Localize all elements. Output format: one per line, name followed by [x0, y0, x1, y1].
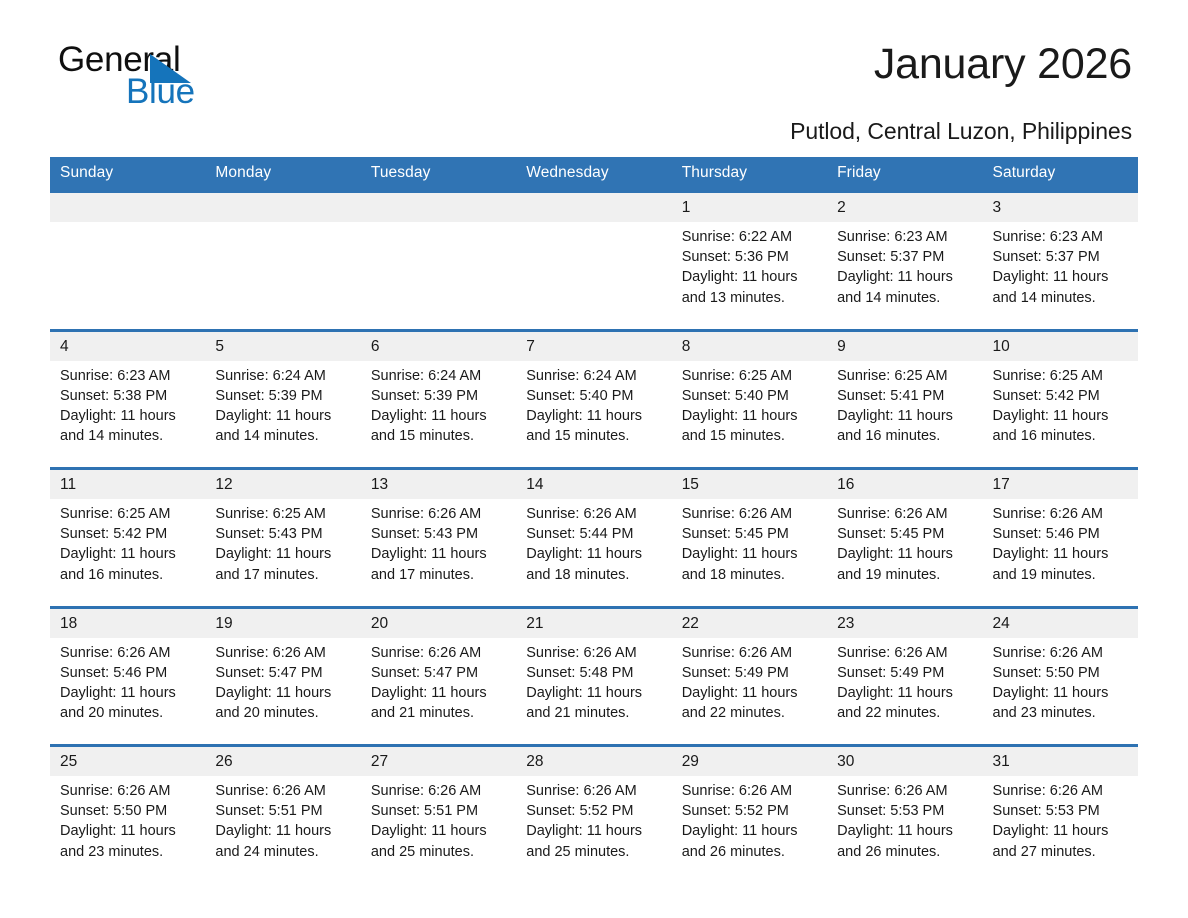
- daylight-text-line1: Daylight: 11 hours: [837, 821, 974, 841]
- daylight-text-line1: Daylight: 11 hours: [837, 267, 974, 287]
- day-detail-lines: Sunrise: 6:26 AMSunset: 5:45 PMDaylight:…: [682, 504, 819, 585]
- sunset-text: Sunset: 5:53 PM: [837, 801, 974, 821]
- day-detail-cell[interactable]: Sunrise: 6:25 AMSunset: 5:42 PMDaylight:…: [50, 499, 205, 607]
- day-detail-lines: Sunrise: 6:26 AMSunset: 5:45 PMDaylight:…: [837, 504, 974, 585]
- day-number-cell[interactable]: 14: [516, 469, 671, 500]
- weekday-header-friday: Friday: [827, 157, 982, 192]
- general-blue-logo[interactable]: General Blue: [50, 42, 250, 108]
- day-detail-cell[interactable]: Sunrise: 6:26 AMSunset: 5:50 PMDaylight:…: [983, 638, 1138, 746]
- sunrise-text: Sunrise: 6:25 AM: [215, 504, 352, 524]
- day-number-cell[interactable]: 21: [516, 607, 671, 638]
- daylight-text-line1: Daylight: 11 hours: [837, 683, 974, 703]
- day-number-cell[interactable]: 24: [983, 607, 1138, 638]
- day-detail-cell[interactable]: Sunrise: 6:26 AMSunset: 5:45 PMDaylight:…: [827, 499, 982, 607]
- day-number-cell[interactable]: 30: [827, 746, 982, 777]
- weekday-header-wednesday: Wednesday: [516, 157, 671, 192]
- sunset-text: Sunset: 5:40 PM: [526, 386, 663, 406]
- day-detail-lines: Sunrise: 6:26 AMSunset: 5:49 PMDaylight:…: [837, 643, 974, 724]
- daylight-text-line1: Daylight: 11 hours: [526, 544, 663, 564]
- daylight-text-line2: and 25 minutes.: [371, 842, 508, 862]
- weekday-header-tuesday: Tuesday: [361, 157, 516, 192]
- day-number-cell[interactable]: 6: [361, 330, 516, 361]
- day-number-cell[interactable]: 25: [50, 746, 205, 777]
- daylight-text-line2: and 15 minutes.: [526, 426, 663, 446]
- daylight-text-line1: Daylight: 11 hours: [60, 544, 197, 564]
- day-cell-empty: [50, 192, 205, 223]
- daylight-text-line2: and 14 minutes.: [215, 426, 352, 446]
- sunset-text: Sunset: 5:45 PM: [837, 524, 974, 544]
- day-cell-empty: [361, 192, 516, 223]
- day-detail-empty: [516, 222, 671, 330]
- day-number: 2: [837, 199, 846, 216]
- sunrise-text: Sunrise: 6:26 AM: [837, 643, 974, 663]
- day-detail-lines: Sunrise: 6:26 AMSunset: 5:50 PMDaylight:…: [993, 643, 1130, 724]
- daylight-text-line1: Daylight: 11 hours: [682, 821, 819, 841]
- day-number: 12: [215, 476, 232, 493]
- sunset-text: Sunset: 5:53 PM: [993, 801, 1130, 821]
- day-number-cell[interactable]: 8: [672, 330, 827, 361]
- day-detail-cell[interactable]: Sunrise: 6:26 AMSunset: 5:51 PMDaylight:…: [361, 776, 516, 884]
- sunset-text: Sunset: 5:36 PM: [682, 247, 819, 267]
- daylight-text-line2: and 23 minutes.: [60, 842, 197, 862]
- day-number-cell[interactable]: 29: [672, 746, 827, 777]
- day-number: 16: [837, 476, 854, 493]
- daylight-text-line2: and 26 minutes.: [837, 842, 974, 862]
- day-number-cell[interactable]: 26: [205, 746, 360, 777]
- day-detail-cell[interactable]: Sunrise: 6:23 AMSunset: 5:37 PMDaylight:…: [827, 222, 982, 330]
- day-detail-cell[interactable]: Sunrise: 6:26 AMSunset: 5:45 PMDaylight:…: [672, 499, 827, 607]
- daylight-text-line2: and 18 minutes.: [682, 565, 819, 585]
- day-number-cell[interactable]: 12: [205, 469, 360, 500]
- sunrise-text: Sunrise: 6:26 AM: [371, 643, 508, 663]
- daylight-text-line1: Daylight: 11 hours: [60, 406, 197, 426]
- day-detail-cell[interactable]: Sunrise: 6:26 AMSunset: 5:49 PMDaylight:…: [827, 638, 982, 746]
- weekday-header-sunday: Sunday: [50, 157, 205, 192]
- daylight-text-line2: and 26 minutes.: [682, 842, 819, 862]
- sunset-text: Sunset: 5:42 PM: [60, 524, 197, 544]
- sunrise-text: Sunrise: 6:24 AM: [215, 366, 352, 386]
- sunset-text: Sunset: 5:47 PM: [215, 663, 352, 683]
- day-number: 15: [682, 476, 699, 493]
- day-number: 21: [526, 615, 543, 632]
- day-number-cell[interactable]: 7: [516, 330, 671, 361]
- day-detail-lines: Sunrise: 6:26 AMSunset: 5:46 PMDaylight:…: [60, 643, 197, 724]
- day-detail-lines: Sunrise: 6:26 AMSunset: 5:47 PMDaylight:…: [371, 643, 508, 724]
- day-detail-cell[interactable]: Sunrise: 6:26 AMSunset: 5:50 PMDaylight:…: [50, 776, 205, 884]
- sunrise-text: Sunrise: 6:25 AM: [682, 366, 819, 386]
- day-detail-lines: Sunrise: 6:26 AMSunset: 5:44 PMDaylight:…: [526, 504, 663, 585]
- daylight-text-line2: and 15 minutes.: [371, 426, 508, 446]
- day-number-cell[interactable]: 23: [827, 607, 982, 638]
- daylight-text-line1: Daylight: 11 hours: [371, 683, 508, 703]
- day-detail-lines: Sunrise: 6:25 AMSunset: 5:41 PMDaylight:…: [837, 366, 974, 447]
- calendar-grid: Sunday Monday Tuesday Wednesday Thursday…: [50, 157, 1138, 884]
- week-daynumber-row: 123: [50, 192, 1138, 223]
- daylight-text-line1: Daylight: 11 hours: [993, 683, 1130, 703]
- sunset-text: Sunset: 5:42 PM: [993, 386, 1130, 406]
- daylight-text-line1: Daylight: 11 hours: [837, 406, 974, 426]
- day-detail-cell[interactable]: Sunrise: 6:26 AMSunset: 5:44 PMDaylight:…: [516, 499, 671, 607]
- sunrise-text: Sunrise: 6:26 AM: [682, 504, 819, 524]
- title-block: January 2026: [874, 42, 1138, 87]
- daylight-text-line1: Daylight: 11 hours: [526, 821, 663, 841]
- day-number-cell[interactable]: 16: [827, 469, 982, 500]
- sunrise-text: Sunrise: 6:26 AM: [60, 643, 197, 663]
- day-detail-lines: Sunrise: 6:24 AMSunset: 5:39 PMDaylight:…: [371, 366, 508, 447]
- day-detail-cell[interactable]: Sunrise: 6:23 AMSunset: 5:38 PMDaylight:…: [50, 361, 205, 469]
- daylight-text-line2: and 14 minutes.: [837, 288, 974, 308]
- sunset-text: Sunset: 5:45 PM: [682, 524, 819, 544]
- weekday-header-row: Sunday Monday Tuesday Wednesday Thursday…: [50, 157, 1138, 192]
- daylight-text-line2: and 22 minutes.: [682, 703, 819, 723]
- daylight-text-line1: Daylight: 11 hours: [993, 267, 1130, 287]
- day-number-cell[interactable]: 2: [827, 192, 982, 223]
- day-detail-cell[interactable]: Sunrise: 6:26 AMSunset: 5:46 PMDaylight:…: [983, 499, 1138, 607]
- daylight-text-line2: and 14 minutes.: [60, 426, 197, 446]
- daylight-text-line1: Daylight: 11 hours: [215, 406, 352, 426]
- day-number: 6: [371, 338, 380, 355]
- daylight-text-line2: and 20 minutes.: [215, 703, 352, 723]
- day-detail-lines: Sunrise: 6:25 AMSunset: 5:42 PMDaylight:…: [60, 504, 197, 585]
- day-detail-lines: Sunrise: 6:23 AMSunset: 5:37 PMDaylight:…: [837, 227, 974, 308]
- day-detail-empty: [50, 222, 205, 330]
- sunset-text: Sunset: 5:37 PM: [837, 247, 974, 267]
- sunset-text: Sunset: 5:50 PM: [993, 663, 1130, 683]
- page-title: January 2026: [874, 42, 1132, 87]
- day-detail-cell[interactable]: Sunrise: 6:26 AMSunset: 5:53 PMDaylight:…: [983, 776, 1138, 884]
- daylight-text-line1: Daylight: 11 hours: [60, 821, 197, 841]
- day-detail-lines: Sunrise: 6:25 AMSunset: 5:42 PMDaylight:…: [993, 366, 1130, 447]
- day-number: 31: [993, 753, 1010, 770]
- day-detail-lines: Sunrise: 6:26 AMSunset: 5:53 PMDaylight:…: [837, 781, 974, 862]
- day-number-cell[interactable]: 19: [205, 607, 360, 638]
- daylight-text-line1: Daylight: 11 hours: [60, 683, 197, 703]
- day-number: 24: [993, 615, 1010, 632]
- day-detail-cell[interactable]: Sunrise: 6:24 AMSunset: 5:40 PMDaylight:…: [516, 361, 671, 469]
- week-daynumber-row: 25262728293031: [50, 746, 1138, 777]
- day-number: 14: [526, 476, 543, 493]
- day-detail-cell[interactable]: Sunrise: 6:25 AMSunset: 5:43 PMDaylight:…: [205, 499, 360, 607]
- day-detail-lines: Sunrise: 6:24 AMSunset: 5:39 PMDaylight:…: [215, 366, 352, 447]
- daylight-text-line2: and 22 minutes.: [837, 703, 974, 723]
- sunset-text: Sunset: 5:48 PM: [526, 663, 663, 683]
- sunrise-text: Sunrise: 6:26 AM: [837, 504, 974, 524]
- day-number-cell[interactable]: 4: [50, 330, 205, 361]
- sunset-text: Sunset: 5:39 PM: [371, 386, 508, 406]
- sunrise-text: Sunrise: 6:26 AM: [993, 643, 1130, 663]
- day-detail-empty: [361, 222, 516, 330]
- sunset-text: Sunset: 5:43 PM: [371, 524, 508, 544]
- daylight-text-line1: Daylight: 11 hours: [371, 544, 508, 564]
- daylight-text-line1: Daylight: 11 hours: [215, 683, 352, 703]
- daylight-text-line2: and 14 minutes.: [993, 288, 1130, 308]
- day-detail-cell[interactable]: Sunrise: 6:25 AMSunset: 5:41 PMDaylight:…: [827, 361, 982, 469]
- day-detail-cell[interactable]: Sunrise: 6:26 AMSunset: 5:53 PMDaylight:…: [827, 776, 982, 884]
- day-number: 13: [371, 476, 388, 493]
- day-cell-empty: [205, 192, 360, 223]
- weekday-header-thursday: Thursday: [672, 157, 827, 192]
- daylight-text-line1: Daylight: 11 hours: [682, 683, 819, 703]
- sunrise-text: Sunrise: 6:23 AM: [993, 227, 1130, 247]
- calendar-page: General Blue January 2026 Putlod, Centra…: [0, 0, 1188, 918]
- week-detail-row: Sunrise: 6:25 AMSunset: 5:42 PMDaylight:…: [50, 499, 1138, 607]
- day-detail-lines: Sunrise: 6:24 AMSunset: 5:40 PMDaylight:…: [526, 366, 663, 447]
- day-number-cell[interactable]: 15: [672, 469, 827, 500]
- sunrise-text: Sunrise: 6:24 AM: [371, 366, 508, 386]
- daylight-text-line1: Daylight: 11 hours: [682, 406, 819, 426]
- day-detail-cell[interactable]: Sunrise: 6:26 AMSunset: 5:52 PMDaylight:…: [672, 776, 827, 884]
- sunset-text: Sunset: 5:49 PM: [837, 663, 974, 683]
- day-number: 4: [60, 338, 69, 355]
- daylight-text-line1: Daylight: 11 hours: [993, 406, 1130, 426]
- week-detail-row: Sunrise: 6:23 AMSunset: 5:38 PMDaylight:…: [50, 361, 1138, 469]
- daylight-text-line1: Daylight: 11 hours: [215, 821, 352, 841]
- sunrise-text: Sunrise: 6:26 AM: [526, 781, 663, 801]
- day-detail-cell[interactable]: Sunrise: 6:25 AMSunset: 5:42 PMDaylight:…: [983, 361, 1138, 469]
- daylight-text-line2: and 27 minutes.: [993, 842, 1130, 862]
- daylight-text-line2: and 17 minutes.: [215, 565, 352, 585]
- day-detail-lines: Sunrise: 6:26 AMSunset: 5:43 PMDaylight:…: [371, 504, 508, 585]
- day-cell-empty: [516, 192, 671, 223]
- day-detail-lines: Sunrise: 6:26 AMSunset: 5:52 PMDaylight:…: [526, 781, 663, 862]
- sunset-text: Sunset: 5:46 PM: [993, 524, 1130, 544]
- day-detail-lines: Sunrise: 6:25 AMSunset: 5:40 PMDaylight:…: [682, 366, 819, 447]
- day-number-cell[interactable]: 31: [983, 746, 1138, 777]
- week-daynumber-row: 45678910: [50, 330, 1138, 361]
- day-detail-lines: Sunrise: 6:26 AMSunset: 5:46 PMDaylight:…: [993, 504, 1130, 585]
- daylight-text-line2: and 20 minutes.: [60, 703, 197, 723]
- location-subtitle: Putlod, Central Luzon, Philippines: [50, 118, 1138, 145]
- day-number: 10: [993, 338, 1010, 355]
- day-detail-lines: Sunrise: 6:26 AMSunset: 5:51 PMDaylight:…: [371, 781, 508, 862]
- sunrise-text: Sunrise: 6:25 AM: [60, 504, 197, 524]
- sunrise-text: Sunrise: 6:26 AM: [60, 781, 197, 801]
- daylight-text-line2: and 17 minutes.: [371, 565, 508, 585]
- week-detail-row: Sunrise: 6:26 AMSunset: 5:50 PMDaylight:…: [50, 776, 1138, 884]
- sunset-text: Sunset: 5:52 PM: [682, 801, 819, 821]
- day-number-cell[interactable]: 11: [50, 469, 205, 500]
- day-number: 9: [837, 338, 846, 355]
- daylight-text-line1: Daylight: 11 hours: [682, 544, 819, 564]
- weekday-header-saturday: Saturday: [983, 157, 1138, 192]
- daylight-text-line2: and 21 minutes.: [371, 703, 508, 723]
- daylight-text-line2: and 24 minutes.: [215, 842, 352, 862]
- sunrise-text: Sunrise: 6:26 AM: [993, 781, 1130, 801]
- logo-text-blue: Blue: [126, 74, 195, 109]
- sunrise-text: Sunrise: 6:23 AM: [837, 227, 974, 247]
- day-detail-empty: [205, 222, 360, 330]
- day-detail-lines: Sunrise: 6:26 AMSunset: 5:47 PMDaylight:…: [215, 643, 352, 724]
- day-detail-cell[interactable]: Sunrise: 6:24 AMSunset: 5:39 PMDaylight:…: [205, 361, 360, 469]
- sunrise-text: Sunrise: 6:26 AM: [682, 643, 819, 663]
- daylight-text-line2: and 19 minutes.: [837, 565, 974, 585]
- daylight-text-line2: and 13 minutes.: [682, 288, 819, 308]
- sunrise-text: Sunrise: 6:26 AM: [526, 643, 663, 663]
- sunrise-text: Sunrise: 6:26 AM: [215, 643, 352, 663]
- sunset-text: Sunset: 5:52 PM: [526, 801, 663, 821]
- sunset-text: Sunset: 5:43 PM: [215, 524, 352, 544]
- daylight-text-line2: and 25 minutes.: [526, 842, 663, 862]
- daylight-text-line2: and 19 minutes.: [993, 565, 1130, 585]
- day-detail-cell[interactable]: Sunrise: 6:26 AMSunset: 5:47 PMDaylight:…: [205, 638, 360, 746]
- daylight-text-line2: and 15 minutes.: [682, 426, 819, 446]
- sunrise-text: Sunrise: 6:22 AM: [682, 227, 819, 247]
- day-number: 25: [60, 753, 77, 770]
- week-detail-row: Sunrise: 6:26 AMSunset: 5:46 PMDaylight:…: [50, 638, 1138, 746]
- sunset-text: Sunset: 5:40 PM: [682, 386, 819, 406]
- day-number: 18: [60, 615, 77, 632]
- daylight-text-line2: and 16 minutes.: [60, 565, 197, 585]
- day-detail-cell[interactable]: Sunrise: 6:26 AMSunset: 5:49 PMDaylight:…: [672, 638, 827, 746]
- daylight-text-line1: Daylight: 11 hours: [371, 821, 508, 841]
- day-detail-lines: Sunrise: 6:26 AMSunset: 5:50 PMDaylight:…: [60, 781, 197, 862]
- day-number: 11: [60, 476, 76, 493]
- week-daynumber-row: 18192021222324: [50, 607, 1138, 638]
- day-number-cell[interactable]: 22: [672, 607, 827, 638]
- day-detail-cell[interactable]: Sunrise: 6:26 AMSunset: 5:47 PMDaylight:…: [361, 638, 516, 746]
- day-number: 23: [837, 615, 854, 632]
- sunrise-text: Sunrise: 6:25 AM: [837, 366, 974, 386]
- daylight-text-line1: Daylight: 11 hours: [371, 406, 508, 426]
- week-detail-row: Sunrise: 6:22 AMSunset: 5:36 PMDaylight:…: [50, 222, 1138, 330]
- day-number: 28: [526, 753, 543, 770]
- daylight-text-line1: Daylight: 11 hours: [837, 544, 974, 564]
- sunrise-text: Sunrise: 6:23 AM: [60, 366, 197, 386]
- daylight-text-line2: and 18 minutes.: [526, 565, 663, 585]
- day-detail-cell[interactable]: Sunrise: 6:22 AMSunset: 5:36 PMDaylight:…: [672, 222, 827, 330]
- day-detail-lines: Sunrise: 6:26 AMSunset: 5:52 PMDaylight:…: [682, 781, 819, 862]
- sunrise-text: Sunrise: 6:26 AM: [526, 504, 663, 524]
- daylight-text-line2: and 16 minutes.: [993, 426, 1130, 446]
- day-detail-lines: Sunrise: 6:22 AMSunset: 5:36 PMDaylight:…: [682, 227, 819, 308]
- daylight-text-line1: Daylight: 11 hours: [993, 821, 1130, 841]
- daylight-text-line2: and 21 minutes.: [526, 703, 663, 723]
- daylight-text-line1: Daylight: 11 hours: [215, 544, 352, 564]
- sunrise-text: Sunrise: 6:25 AM: [993, 366, 1130, 386]
- day-detail-cell[interactable]: Sunrise: 6:26 AMSunset: 5:52 PMDaylight:…: [516, 776, 671, 884]
- day-detail-lines: Sunrise: 6:23 AMSunset: 5:37 PMDaylight:…: [993, 227, 1130, 308]
- sunset-text: Sunset: 5:44 PM: [526, 524, 663, 544]
- sunset-text: Sunset: 5:51 PM: [371, 801, 508, 821]
- day-number-cell[interactable]: 1: [672, 192, 827, 223]
- sunrise-text: Sunrise: 6:26 AM: [371, 781, 508, 801]
- day-detail-cell[interactable]: Sunrise: 6:24 AMSunset: 5:39 PMDaylight:…: [361, 361, 516, 469]
- day-detail-cell[interactable]: Sunrise: 6:26 AMSunset: 5:46 PMDaylight:…: [50, 638, 205, 746]
- day-number: 3: [993, 199, 1002, 216]
- week-daynumber-row: 11121314151617: [50, 469, 1138, 500]
- day-detail-lines: Sunrise: 6:25 AMSunset: 5:43 PMDaylight:…: [215, 504, 352, 585]
- day-number-cell[interactable]: 28: [516, 746, 671, 777]
- day-detail-cell[interactable]: Sunrise: 6:23 AMSunset: 5:37 PMDaylight:…: [983, 222, 1138, 330]
- sunset-text: Sunset: 5:50 PM: [60, 801, 197, 821]
- day-number: 30: [837, 753, 854, 770]
- masthead: General Blue January 2026: [50, 0, 1138, 108]
- sunset-text: Sunset: 5:37 PM: [993, 247, 1130, 267]
- day-number: 7: [526, 338, 535, 355]
- day-number: 17: [993, 476, 1010, 493]
- calendar-body: 123Sunrise: 6:22 AMSunset: 5:36 PMDaylig…: [50, 192, 1138, 885]
- day-number-cell[interactable]: 17: [983, 469, 1138, 500]
- day-number-cell[interactable]: 18: [50, 607, 205, 638]
- day-number: 26: [215, 753, 232, 770]
- sunrise-text: Sunrise: 6:26 AM: [682, 781, 819, 801]
- day-number-cell[interactable]: 27: [361, 746, 516, 777]
- sunset-text: Sunset: 5:41 PM: [837, 386, 974, 406]
- sunrise-text: Sunrise: 6:26 AM: [371, 504, 508, 524]
- day-number-cell[interactable]: 9: [827, 330, 982, 361]
- sunset-text: Sunset: 5:46 PM: [60, 663, 197, 683]
- day-detail-cell[interactable]: Sunrise: 6:26 AMSunset: 5:51 PMDaylight:…: [205, 776, 360, 884]
- daylight-text-line1: Daylight: 11 hours: [526, 683, 663, 703]
- sunrise-text: Sunrise: 6:24 AM: [526, 366, 663, 386]
- daylight-text-line1: Daylight: 11 hours: [682, 267, 819, 287]
- daylight-text-line2: and 16 minutes.: [837, 426, 974, 446]
- daylight-text-line1: Daylight: 11 hours: [993, 544, 1130, 564]
- sunrise-text: Sunrise: 6:26 AM: [993, 504, 1130, 524]
- sunrise-text: Sunrise: 6:26 AM: [837, 781, 974, 801]
- day-detail-lines: Sunrise: 6:26 AMSunset: 5:53 PMDaylight:…: [993, 781, 1130, 862]
- day-detail-cell[interactable]: Sunrise: 6:26 AMSunset: 5:43 PMDaylight:…: [361, 499, 516, 607]
- day-number: 1: [682, 199, 691, 216]
- day-detail-lines: Sunrise: 6:23 AMSunset: 5:38 PMDaylight:…: [60, 366, 197, 447]
- day-number: 27: [371, 753, 388, 770]
- day-number-cell[interactable]: 20: [361, 607, 516, 638]
- sunset-text: Sunset: 5:47 PM: [371, 663, 508, 683]
- day-detail-lines: Sunrise: 6:26 AMSunset: 5:51 PMDaylight:…: [215, 781, 352, 862]
- sunset-text: Sunset: 5:49 PM: [682, 663, 819, 683]
- weekday-header-monday: Monday: [205, 157, 360, 192]
- day-number: 8: [682, 338, 691, 355]
- day-number: 29: [682, 753, 699, 770]
- day-number-cell[interactable]: 3: [983, 192, 1138, 223]
- day-detail-cell[interactable]: Sunrise: 6:25 AMSunset: 5:40 PMDaylight:…: [672, 361, 827, 469]
- sunset-text: Sunset: 5:38 PM: [60, 386, 197, 406]
- sunset-text: Sunset: 5:51 PM: [215, 801, 352, 821]
- day-number: 22: [682, 615, 699, 632]
- day-number-cell[interactable]: 5: [205, 330, 360, 361]
- day-number: 5: [215, 338, 224, 355]
- day-number-cell[interactable]: 13: [361, 469, 516, 500]
- day-number: 20: [371, 615, 388, 632]
- sunrise-text: Sunrise: 6:26 AM: [215, 781, 352, 801]
- daylight-text-line2: and 23 minutes.: [993, 703, 1130, 723]
- day-detail-lines: Sunrise: 6:26 AMSunset: 5:48 PMDaylight:…: [526, 643, 663, 724]
- day-detail-lines: Sunrise: 6:26 AMSunset: 5:49 PMDaylight:…: [682, 643, 819, 724]
- daylight-text-line1: Daylight: 11 hours: [526, 406, 663, 426]
- day-detail-cell[interactable]: Sunrise: 6:26 AMSunset: 5:48 PMDaylight:…: [516, 638, 671, 746]
- day-number-cell[interactable]: 10: [983, 330, 1138, 361]
- day-number: 19: [215, 615, 232, 632]
- sunset-text: Sunset: 5:39 PM: [215, 386, 352, 406]
